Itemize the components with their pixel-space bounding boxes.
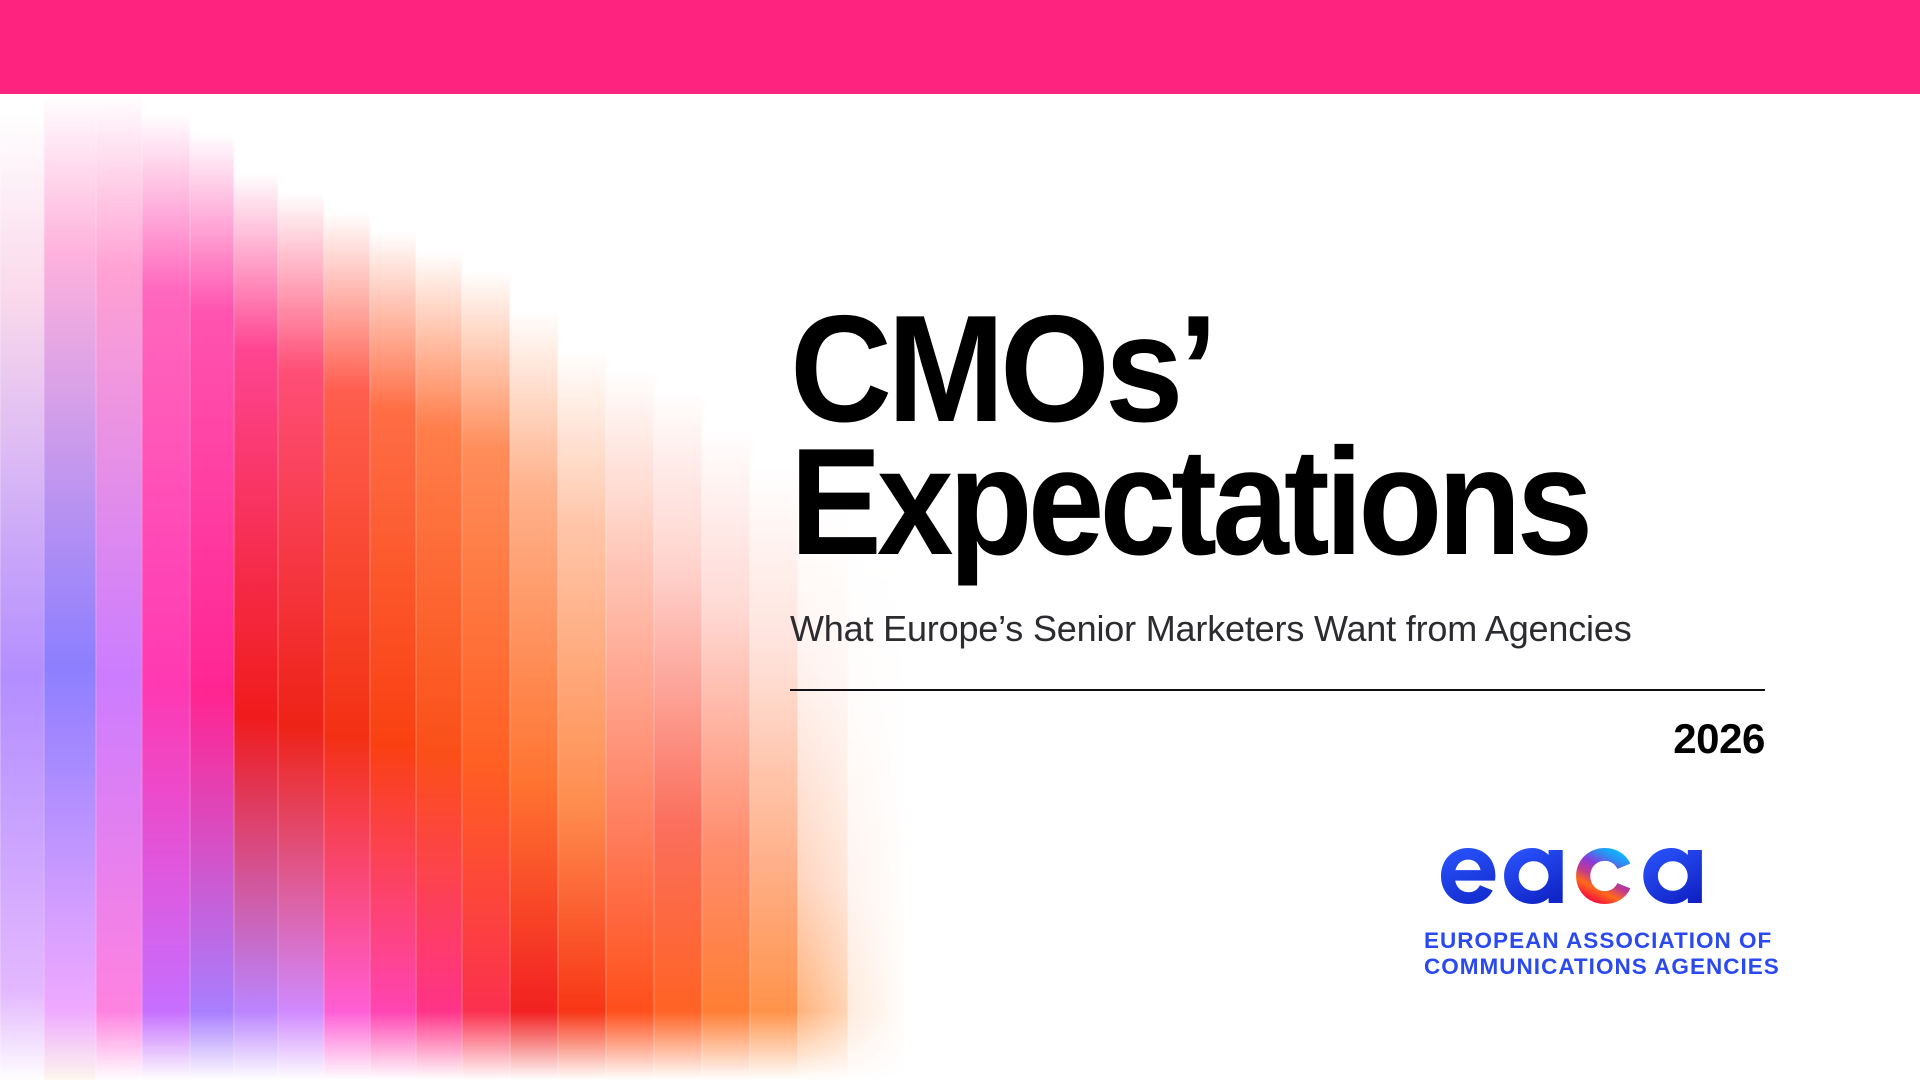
cover-headline: CMOs’ Expectations bbox=[790, 296, 1770, 577]
page-title-line-2: Expectations bbox=[790, 429, 1677, 576]
eaca-logo[interactable]: EUROPEAN ASSOCIATION OF COMMUNICATIONS A… bbox=[1424, 828, 1764, 980]
gradient-stripe bbox=[96, 94, 142, 1080]
cover-year: 2026 bbox=[790, 715, 1765, 763]
gradient-stripe bbox=[606, 94, 654, 1080]
gradient-stripe bbox=[654, 94, 702, 1080]
gradient-stripe bbox=[462, 94, 510, 1080]
gradient-stripe bbox=[234, 94, 278, 1080]
cover-page: CMOs’ Expectations What Europe’s Senior … bbox=[0, 0, 1920, 1080]
gradient-stripe bbox=[324, 94, 370, 1080]
eaca-wordmark-icon bbox=[1424, 828, 1750, 924]
gradient-stripe bbox=[190, 94, 234, 1080]
gradient-stripe bbox=[278, 94, 324, 1080]
top-accent-banner bbox=[0, 0, 1920, 94]
eaca-logo-line-2: COMMUNICATIONS AGENCIES bbox=[1424, 954, 1764, 980]
divider-rule bbox=[790, 689, 1765, 691]
gradient-stripe bbox=[44, 94, 96, 1080]
gradient-stripe bbox=[0, 94, 44, 1080]
gradient-stripe bbox=[416, 94, 462, 1080]
gradient-stripe bbox=[370, 94, 416, 1080]
eaca-logo-text: EUROPEAN ASSOCIATION OF COMMUNICATIONS A… bbox=[1424, 928, 1764, 980]
gradient-stripe bbox=[702, 94, 750, 1080]
gradient-stripe bbox=[142, 94, 190, 1080]
page-subtitle: What Europe’s Senior Marketers Want from… bbox=[790, 608, 1770, 650]
gradient-stripe bbox=[510, 94, 558, 1080]
eaca-logo-line-1: EUROPEAN ASSOCIATION OF bbox=[1424, 928, 1764, 954]
gradient-stripe bbox=[558, 94, 606, 1080]
gradient-stripes-graphic bbox=[0, 94, 920, 1080]
